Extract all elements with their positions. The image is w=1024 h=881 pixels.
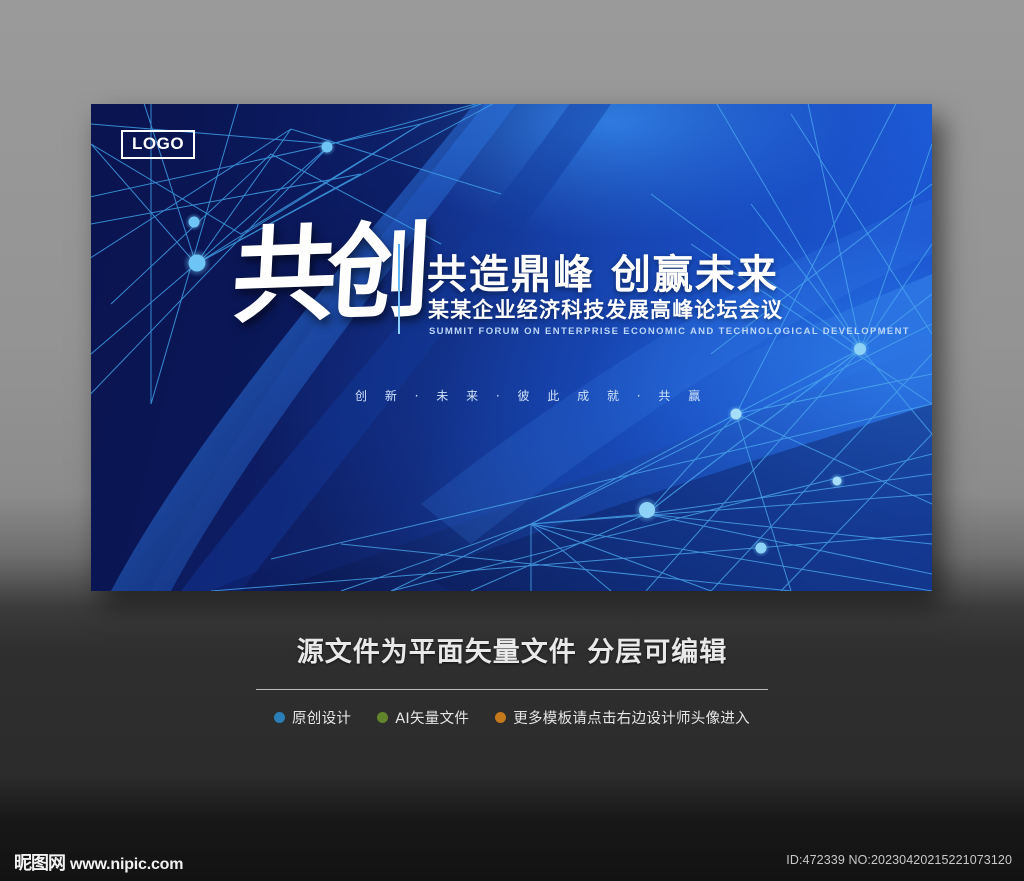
conference-poster: LOGO 共创 共造鼎峰 创赢未来 某某企业经济科技发展高峰论坛会议 SUMMI… — [91, 104, 932, 591]
bullet-dot-icon — [377, 712, 388, 723]
info-section: 源文件为平面矢量文件 分层可编辑 原创设计 AI矢量文件 更多模板请点击右边设计… — [0, 630, 1024, 728]
bullet-dot-icon — [274, 712, 285, 723]
info-divider — [256, 689, 768, 690]
info-title: 源文件为平面矢量文件 分层可编辑 — [0, 630, 1024, 669]
info-bullet-list: 原创设计 AI矢量文件 更多模板请点击右边设计师头像进入 — [0, 707, 1024, 728]
logo-badge[interactable]: LOGO — [121, 130, 195, 159]
logo-label: LOGO — [132, 134, 184, 153]
bullet-dot-icon — [495, 712, 506, 723]
bullet-label: 原创设计 — [292, 707, 351, 728]
list-item: AI矢量文件 — [377, 707, 469, 728]
watermark-url-label: www.nipic.com — [70, 856, 183, 874]
poster-subheadline: 某某企业经济科技发展高峰论坛会议 — [428, 294, 783, 324]
list-item: 原创设计 — [274, 707, 351, 728]
poster-english-subtitle: SUMMIT FORUM ON ENTERPRISE ECONOMIC AND … — [429, 326, 910, 337]
bullet-label: AI矢量文件 — [395, 707, 469, 728]
site-watermark: 昵图网 www.nipic.com — [14, 849, 183, 875]
watermark-cn-label: 昵图网 — [14, 849, 65, 875]
brush-calligraphy-text: 共创 — [228, 219, 405, 355]
poster-headline: 共造鼎峰 创赢未来 — [427, 242, 779, 300]
bullet-label: 更多模板请点击右边设计师头像进入 — [513, 707, 750, 728]
poster-graphics — [91, 104, 932, 591]
poster-tagline: 创 新 · 未 来 · 彼 此 成 就 · 共 赢 — [355, 387, 707, 404]
asset-id-label: ID:472339 NO:20230420215221073120 — [786, 853, 1012, 867]
vertical-divider — [398, 244, 400, 334]
list-item: 更多模板请点击右边设计师头像进入 — [495, 707, 750, 728]
